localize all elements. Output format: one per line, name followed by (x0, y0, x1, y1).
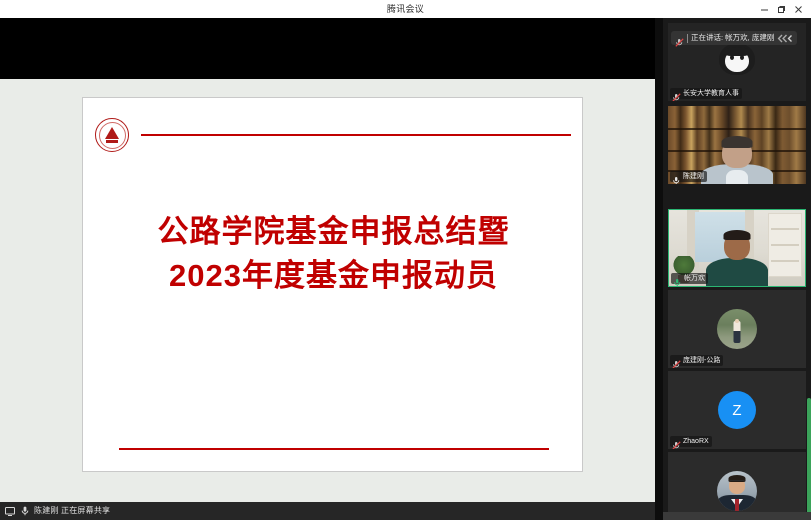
shared-screen-stage: 公路学院基金申报总结暨 2023年度基金申报动员 (0, 18, 663, 520)
participant-name-chip-5: ZhaoRX (670, 436, 712, 447)
participant-tile-1[interactable]: 正在讲话: 帐万欢, 庞建刚 长安大学 (668, 23, 806, 101)
tencent-meeting-window: 腾讯会议 (0, 0, 811, 520)
shared-screen-viewport[interactable]: 公路学院基金申报总结暨 2023年度基金申报动员 (0, 18, 663, 502)
close-button[interactable] (790, 0, 807, 18)
presentation-slide: 公路学院基金申报总结暨 2023年度基金申报动员 (82, 97, 583, 472)
slide-footer-rule (119, 448, 549, 450)
participant-tile-5[interactable]: Z ZhaoRX (668, 371, 806, 449)
participant-tile-4[interactable]: 庞建刚-公路 (668, 290, 806, 368)
slide-title: 公路学院基金申报总结暨 2023年度基金申报动员 (83, 210, 583, 298)
chevron-left-icon[interactable] (777, 34, 793, 43)
mic-active-icon (672, 172, 681, 181)
mic-active-icon (673, 274, 682, 283)
participant-tile-3[interactable]: 帐万欢 (668, 209, 806, 287)
avatar-initial: Z (718, 391, 756, 429)
mic-muted-icon (672, 356, 681, 365)
rail-scrollbar[interactable] (807, 398, 811, 494)
active-speaker-text: 正在讲话: 帐万欢, 庞建刚 (691, 31, 774, 45)
rail-bottom-strip (663, 512, 811, 520)
screen-share-icon (4, 506, 15, 517)
mic-muted-icon (672, 437, 681, 446)
participant-name-3: 帐万欢 (684, 273, 705, 284)
microphone-icon (19, 506, 30, 517)
participant-name-1: 长安大学教育人事 (683, 88, 739, 99)
participant-name-chip-3: 帐万欢 (671, 273, 708, 284)
participant-name-2: 陈建刚 (683, 171, 704, 182)
slide-title-line-2: 2023年度基金申报动员 (83, 254, 583, 298)
window-controls (756, 0, 807, 18)
active-speaker-banner[interactable]: 正在讲话: 帐万欢, 庞建刚 (671, 31, 797, 45)
participant-name-4: 庞建刚-公路 (683, 355, 720, 366)
banner-divider (687, 34, 688, 43)
university-emblem-icon (95, 118, 129, 152)
avatar (717, 309, 757, 349)
mic-muted-icon (672, 89, 681, 98)
share-status-text: 陈建刚 正在屏幕共享 (34, 502, 110, 520)
participant-rail[interactable]: 正在讲话: 帐万欢, 庞建刚 长安大学 (663, 18, 811, 520)
cartoon-avatar (719, 43, 755, 75)
maximize-button[interactable] (773, 0, 790, 18)
stage-gutter (655, 18, 663, 520)
mic-muted-icon (675, 34, 684, 43)
title-bar: 腾讯会议 (0, 0, 811, 18)
participant-tile-2[interactable]: 陈建刚 (668, 106, 806, 184)
participant-tile-6[interactable]: 张小飞 (668, 452, 806, 520)
participant-name-5: ZhaoRX (683, 436, 709, 447)
participant-name-chip-1: 长安大学教育人事 (670, 88, 742, 99)
avatar (717, 471, 757, 511)
share-status-bar: 陈建刚 正在屏幕共享 (0, 502, 663, 520)
slide-header-rule (141, 134, 571, 136)
minimize-button[interactable] (756, 0, 773, 18)
participant-name-chip-2: 陈建刚 (670, 171, 707, 182)
window-title: 腾讯会议 (0, 0, 811, 18)
participant-name-chip-4: 庞建刚-公路 (670, 355, 723, 366)
slide-header (95, 116, 572, 156)
slide-title-line-1: 公路学院基金申报总结暨 (83, 210, 583, 254)
